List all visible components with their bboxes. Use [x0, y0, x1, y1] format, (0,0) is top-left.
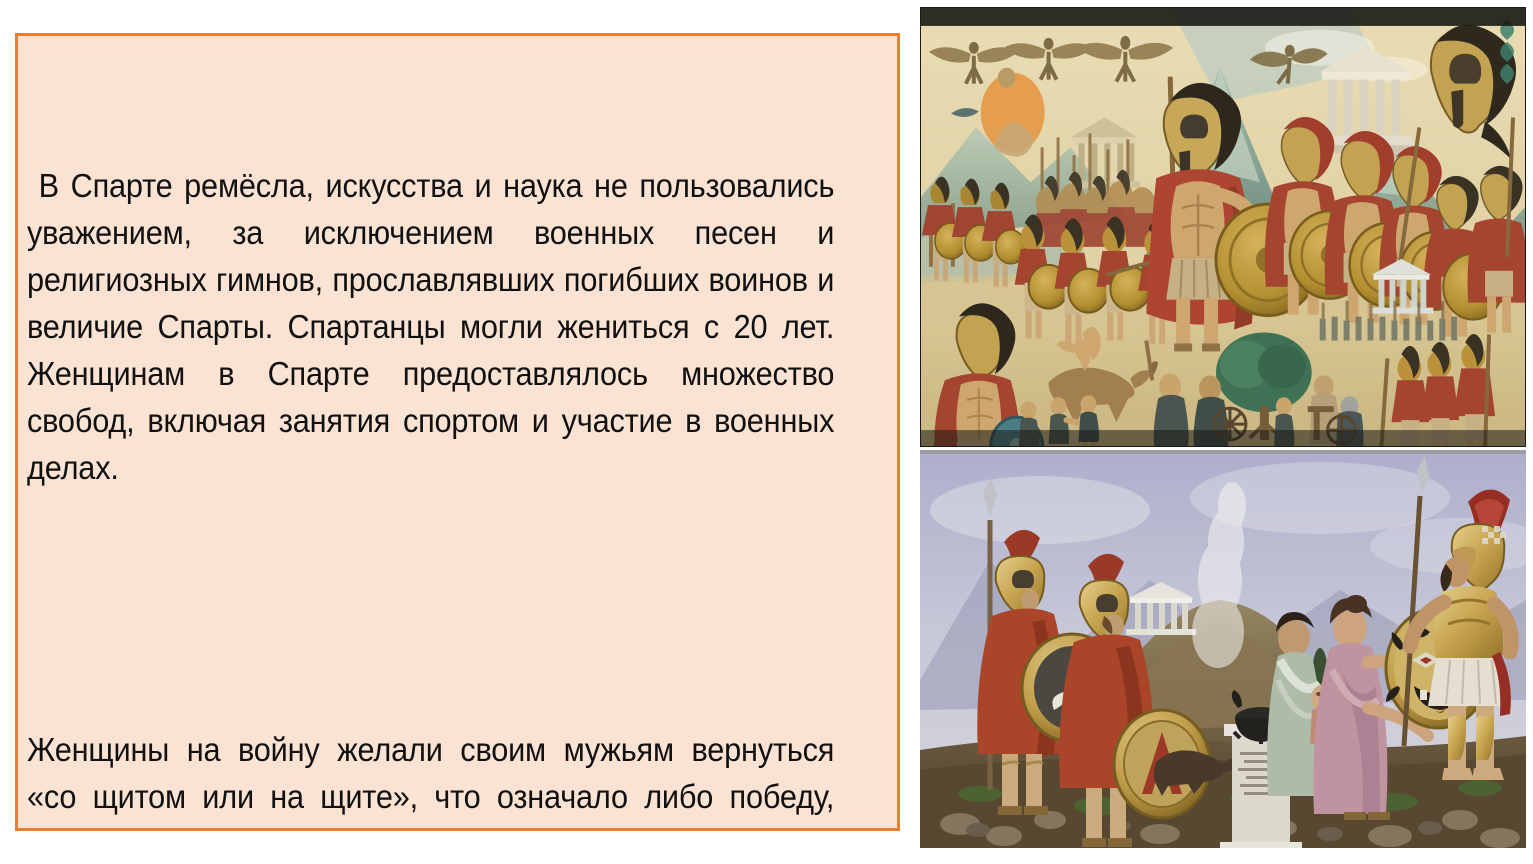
slide-canvas: В Спарте ремёсла, искусства и наука не п…: [0, 0, 1533, 864]
spartan-farewell-artwork: [920, 450, 1526, 848]
spartan-army-artwork: [921, 8, 1525, 446]
spartan-farewell-illustration: Спартанские воины с копьями и щитами (ля…: [920, 450, 1526, 848]
text-panel: В Спарте ремёсла, искусства и наука не п…: [15, 33, 900, 831]
paragraph-1: В Спарте ремёсла, искусства и наука не п…: [27, 162, 834, 491]
paragraph-spacer: [27, 585, 834, 632]
spartan-army-illustration: Иллюстрация древней Спарты: фаланга спар…: [920, 7, 1526, 447]
text-body: В Спарте ремёсла, искусства и наука не п…: [27, 68, 834, 831]
paragraph-2: Женщины на войну желали своим мужьям вер…: [27, 726, 834, 831]
